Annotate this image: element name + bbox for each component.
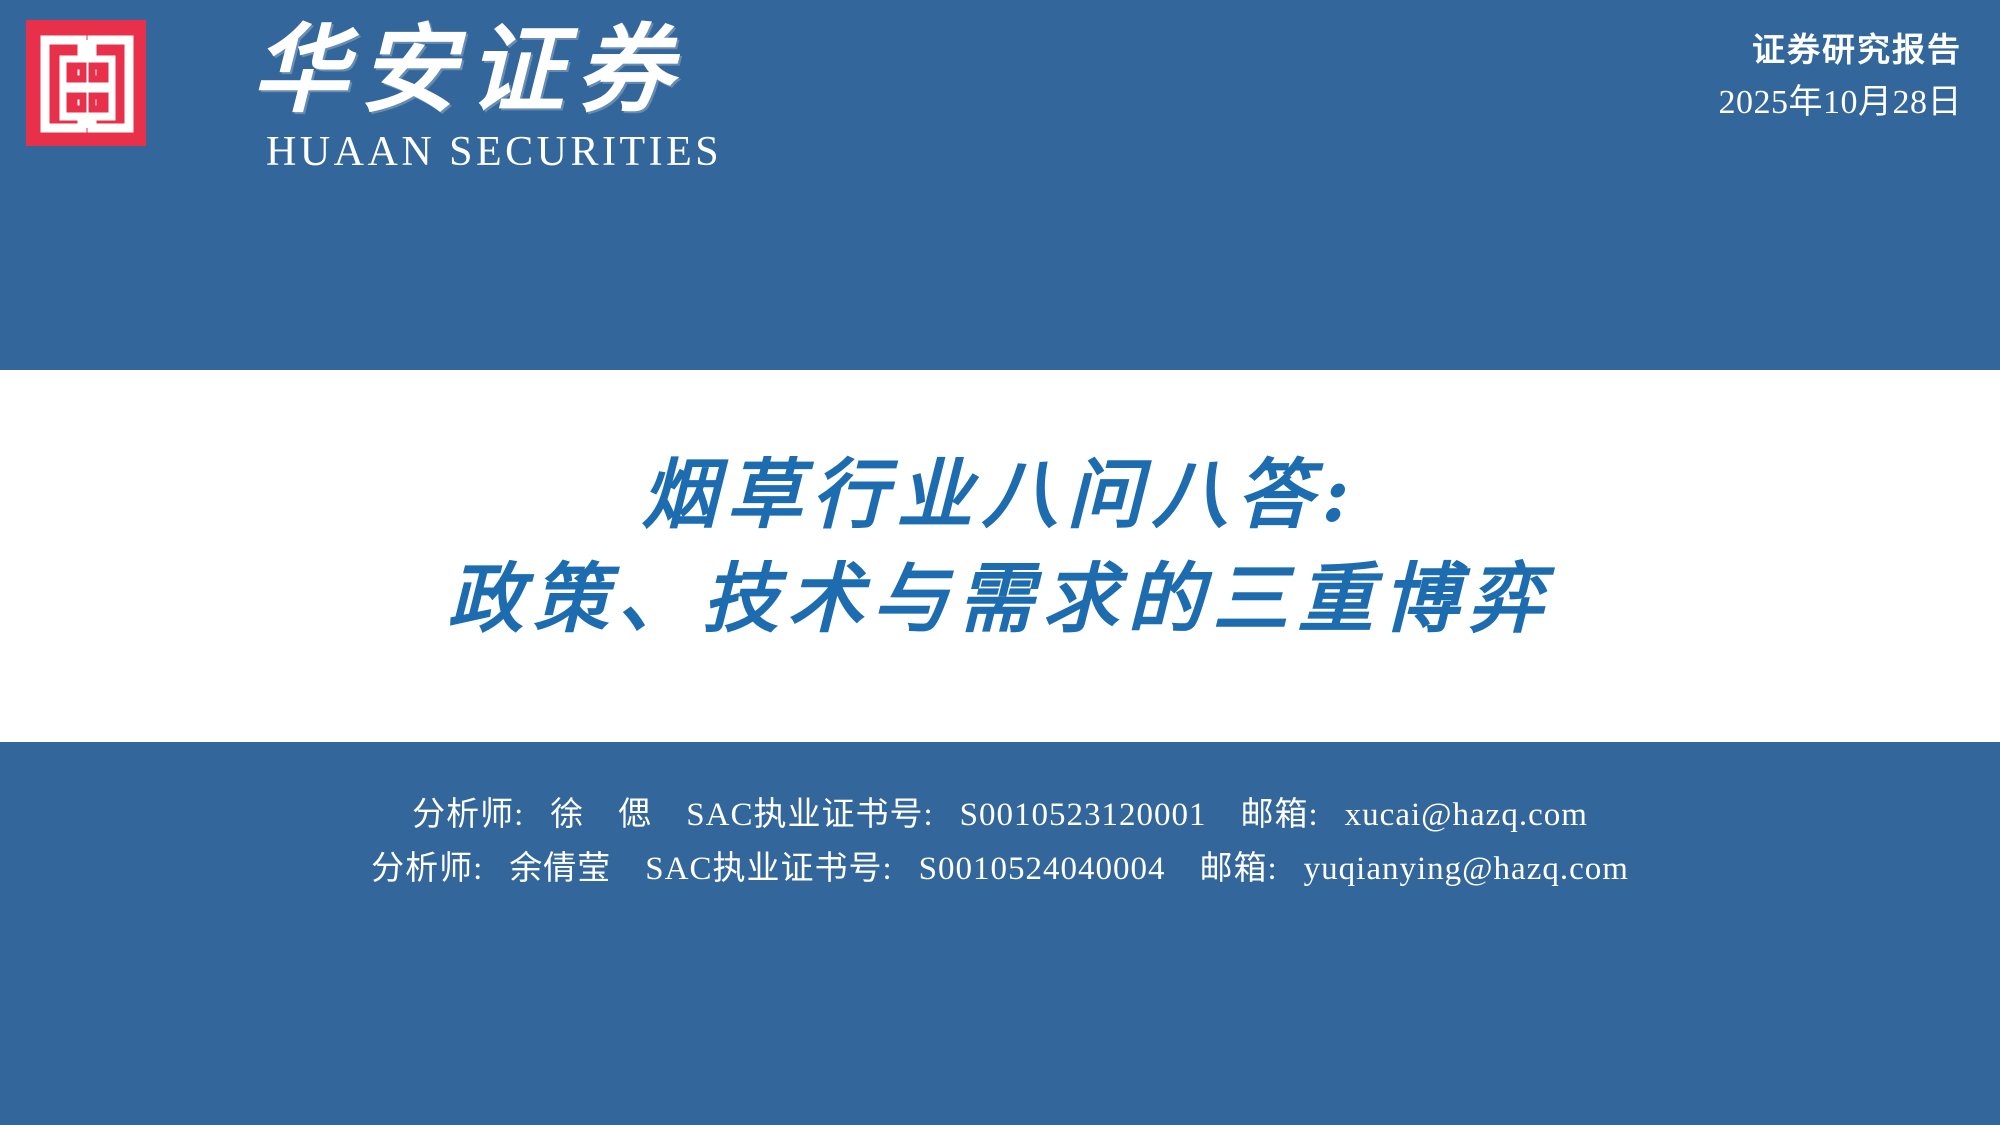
- analyst-sac-label: SAC执业证书号:: [686, 797, 933, 833]
- analyst-email[interactable]: yuqianying@hazq.com: [1304, 851, 1629, 887]
- analyst-email-label: 邮箱:: [1241, 797, 1319, 833]
- analyst-role-label: 分析师:: [371, 851, 483, 887]
- company-wordmark-cn: 华安证券: [252, 10, 752, 130]
- analyst-sac-label: SAC执业证书号:: [645, 851, 892, 887]
- report-title-line-1: 烟草行业八问八答:: [641, 443, 1358, 547]
- report-cover-page: 华安证券 HUAAN SECURITIES 证券研究报告 2025年10月28日…: [0, 0, 2000, 1125]
- analyst-sac-number: S0010523120001: [960, 797, 1207, 833]
- report-title: 烟草行业八问八答: 政策、技术与需求的三重博弈: [0, 370, 2000, 742]
- report-type-label: 证券研究报告: [1719, 26, 1963, 74]
- huaan-square-seal-logo-icon: [26, 20, 146, 146]
- report-title-line-2: 政策、技术与需求的三重博弈: [448, 547, 1553, 651]
- analyst-name: 徐 偲: [550, 797, 652, 833]
- analyst-list: 分析师:徐 偲SAC执业证书号:S0010523120001邮箱:xucai@h…: [0, 788, 2000, 896]
- analyst-sac-number: S0010524040004: [919, 851, 1166, 887]
- company-wordmark-en: HUAAN SECURITIES: [266, 128, 722, 176]
- analyst-email-label: 邮箱:: [1200, 851, 1278, 887]
- report-date: 2025年10月28日: [1719, 78, 1963, 128]
- header-meta: 证券研究报告 2025年10月28日: [1719, 26, 1963, 128]
- analyst-row: 分析师:余倩莹SAC执业证书号:S0010524040004邮箱:yuqiany…: [371, 842, 1629, 896]
- analyst-email[interactable]: xucai@hazq.com: [1345, 797, 1588, 833]
- analyst-role-label: 分析师:: [412, 797, 524, 833]
- analyst-name: 余倩莹: [509, 851, 611, 887]
- analyst-row: 分析师:徐 偲SAC执业证书号:S0010523120001邮箱:xucai@h…: [412, 788, 1588, 842]
